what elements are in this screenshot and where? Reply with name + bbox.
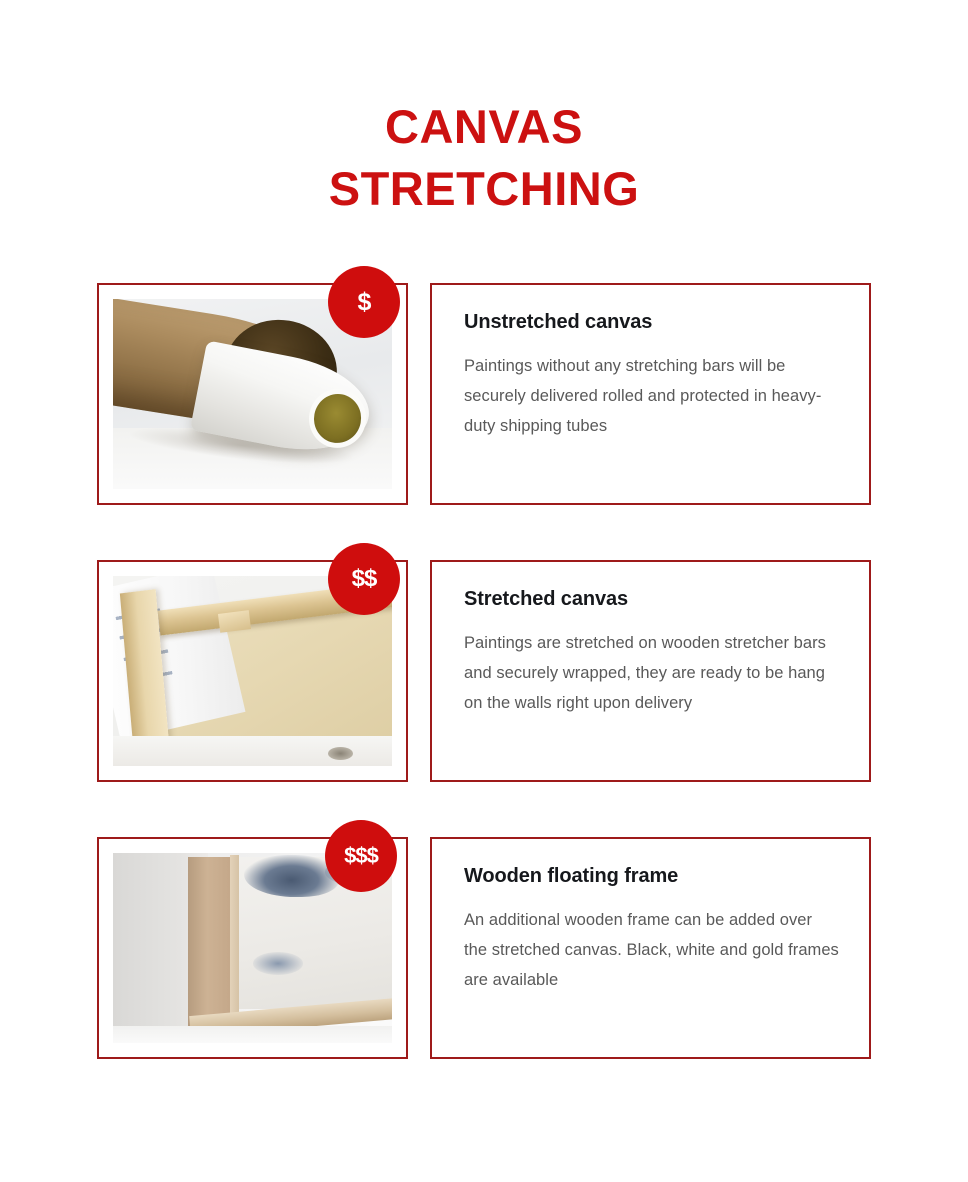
frame-inner-face: [230, 855, 238, 1034]
canvas-stretching-infographic: CANVAS STRETCHING $ Unstretched canvas P…: [0, 0, 968, 1182]
option-heading: Wooden floating frame: [464, 865, 839, 888]
option-row-wooden-floating-frame: $$$ Wooden floating frame An additional …: [97, 837, 871, 1059]
option-list: $ Unstretched canvas Paintings without a…: [97, 283, 871, 1059]
price-badge: $: [328, 266, 400, 338]
option-heading: Unstretched canvas: [464, 311, 839, 334]
option-description: Paintings without any stretching bars wi…: [464, 351, 839, 441]
page-title-line-2: STRETCHING: [0, 158, 968, 220]
option-text-card: Stretched canvas Paintings are stretched…: [430, 560, 871, 782]
page-title: CANVAS STRETCHING: [0, 96, 968, 220]
option-text-card: Unstretched canvas Paintings without any…: [430, 283, 871, 505]
price-badge: $$$: [325, 820, 397, 892]
option-row-stretched-canvas: $$ Stretched canvas Paintings are stretc…: [97, 560, 871, 782]
page-title-line-1: CANVAS: [0, 96, 968, 158]
frame-side-edge: [188, 857, 235, 1032]
option-description: Paintings are stretched on wooden stretc…: [464, 628, 839, 718]
option-row-unstretched-canvas: $ Unstretched canvas Paintings without a…: [97, 283, 871, 505]
option-heading: Stretched canvas: [464, 588, 839, 611]
option-text-card: Wooden floating frame An additional wood…: [430, 837, 871, 1059]
photo-surface: [113, 1026, 392, 1043]
stretcher-corner-key: [218, 610, 251, 633]
artwork-blue-wash-3: [253, 952, 303, 975]
price-badge: $$: [328, 543, 400, 615]
option-description: An additional wooden frame can be added …: [464, 905, 839, 995]
